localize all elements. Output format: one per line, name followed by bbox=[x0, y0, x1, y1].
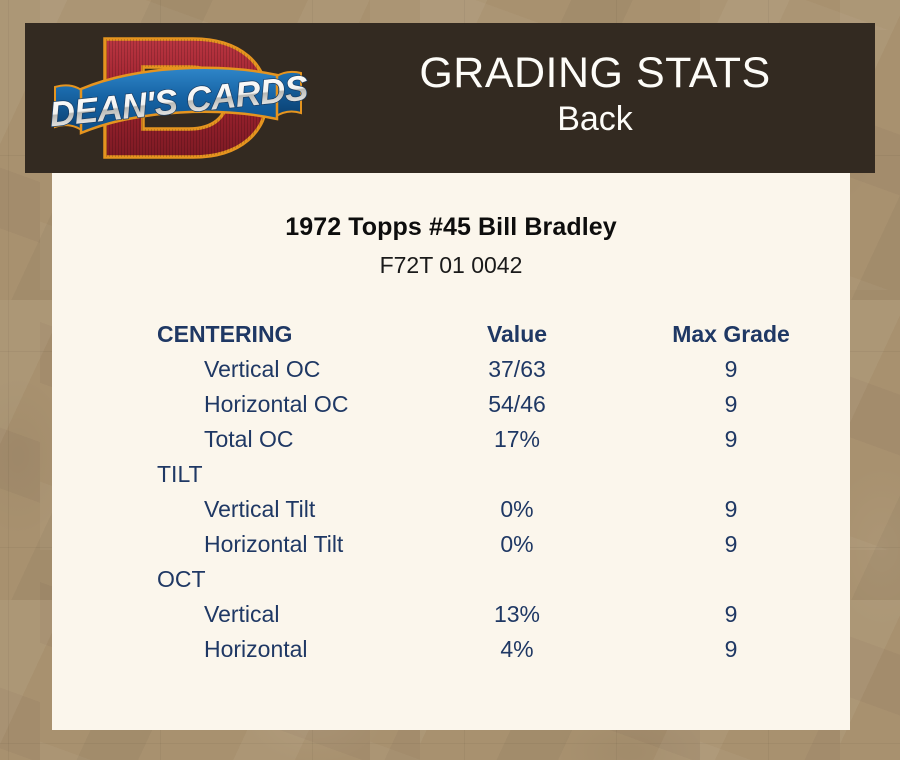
deans-cards-logo[interactable]: DEAN'S CARDS bbox=[43, 25, 313, 171]
row-label: Horizontal OC bbox=[52, 387, 422, 422]
column-header-centering: CENTERING bbox=[52, 317, 422, 352]
column-header-max-grade: Max Grade bbox=[612, 317, 850, 352]
row-value: 54/46 bbox=[422, 387, 612, 422]
content-panel: 1972 Topps #45 Bill Bradley F72T 01 0042… bbox=[52, 173, 850, 730]
header-text-block: GRADING STATS Back bbox=[315, 23, 875, 173]
table-row: Vertical OC37/639 bbox=[52, 352, 850, 387]
table-body: Vertical OC37/639Horizontal OC54/469Tota… bbox=[52, 352, 850, 667]
table-row: Horizontal Tilt0%9 bbox=[52, 527, 850, 562]
table-head: CENTERING Value Max Grade bbox=[52, 317, 850, 352]
card-id: F72T 01 0042 bbox=[52, 252, 850, 279]
row-max-grade bbox=[612, 562, 850, 597]
page-title: GRADING STATS bbox=[419, 51, 770, 96]
table-header-row: CENTERING Value Max Grade bbox=[52, 317, 850, 352]
header-bar: DEAN'S CARDS GRADING STATS Back bbox=[25, 23, 875, 173]
row-label: Vertical Tilt bbox=[52, 492, 422, 527]
table-row: Vertical Tilt0%9 bbox=[52, 492, 850, 527]
table-row: Vertical13%9 bbox=[52, 597, 850, 632]
row-max-grade: 9 bbox=[612, 352, 850, 387]
row-max-grade: 9 bbox=[612, 597, 850, 632]
row-value: 37/63 bbox=[422, 352, 612, 387]
row-value bbox=[422, 562, 612, 597]
row-value: 17% bbox=[422, 422, 612, 457]
card-title: 1972 Topps #45 Bill Bradley bbox=[52, 213, 850, 242]
row-label: Horizontal bbox=[52, 632, 422, 667]
table-section-row: OCT bbox=[52, 562, 850, 597]
row-max-grade: 9 bbox=[612, 387, 850, 422]
row-label: OCT bbox=[52, 562, 422, 597]
row-max-grade: 9 bbox=[612, 492, 850, 527]
row-label: Vertical OC bbox=[52, 352, 422, 387]
row-value bbox=[422, 457, 612, 492]
table-row: Horizontal4%9 bbox=[52, 632, 850, 667]
row-max-grade: 9 bbox=[612, 422, 850, 457]
row-max-grade bbox=[612, 457, 850, 492]
row-value: 13% bbox=[422, 597, 612, 632]
row-max-grade: 9 bbox=[612, 527, 850, 562]
table-section-row: TILT bbox=[52, 457, 850, 492]
column-header-value: Value bbox=[422, 317, 612, 352]
table-row: Horizontal OC54/469 bbox=[52, 387, 850, 422]
row-max-grade: 9 bbox=[612, 632, 850, 667]
row-label: Horizontal Tilt bbox=[52, 527, 422, 562]
grading-stats-table: CENTERING Value Max Grade Vertical OC37/… bbox=[52, 317, 850, 667]
table-row: Total OC17%9 bbox=[52, 422, 850, 457]
row-value: 0% bbox=[422, 527, 612, 562]
row-label: Vertical bbox=[52, 597, 422, 632]
row-value: 0% bbox=[422, 492, 612, 527]
row-label: Total OC bbox=[52, 422, 422, 457]
row-label: TILT bbox=[52, 457, 422, 492]
page-subtitle: Back bbox=[557, 98, 633, 141]
row-value: 4% bbox=[422, 632, 612, 667]
